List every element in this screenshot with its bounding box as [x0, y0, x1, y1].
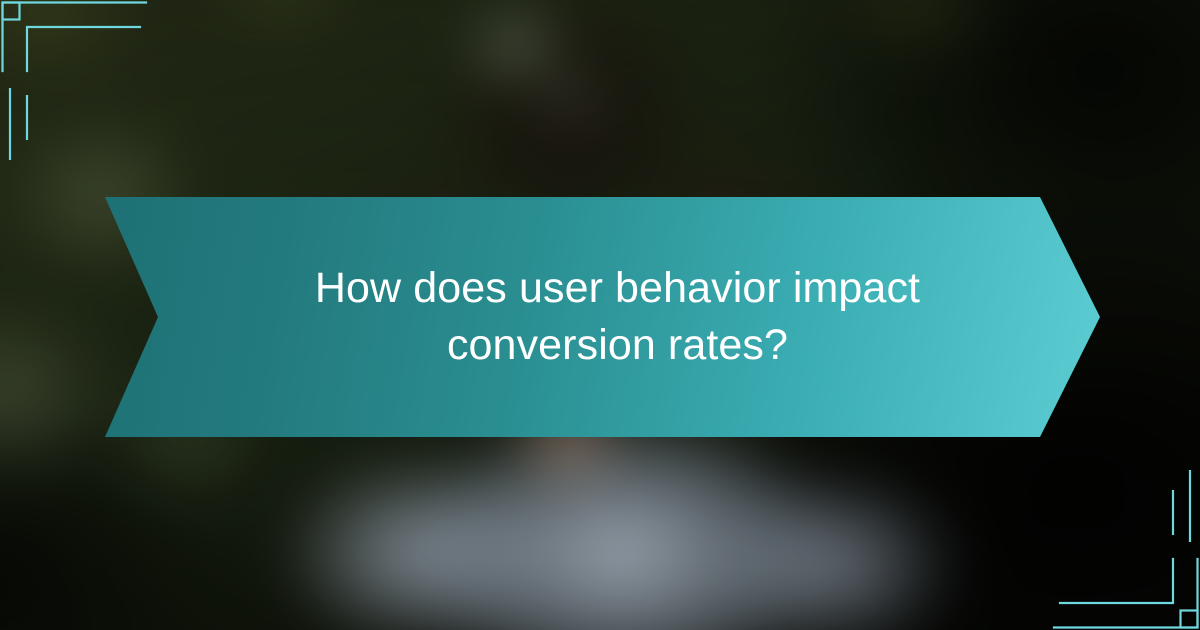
corner-bracket-bottom-right	[1040, 470, 1200, 630]
headline-text: How does user behavior impact conversion…	[268, 260, 968, 374]
accent-bracket-inner-icon	[1060, 559, 1173, 603]
accent-bracket-inner-icon	[27, 27, 140, 71]
quote-card: How does user behavior impact conversion…	[0, 0, 1200, 630]
accent-square-icon	[1181, 611, 1198, 628]
headline-banner: How does user behavior impact conversion…	[105, 197, 1100, 437]
accent-bracket-outer-icon	[3, 3, 147, 72]
accent-square-icon	[3, 3, 20, 20]
corner-bracket-top-left	[0, 0, 160, 160]
accent-bracket-outer-icon	[1054, 559, 1198, 628]
